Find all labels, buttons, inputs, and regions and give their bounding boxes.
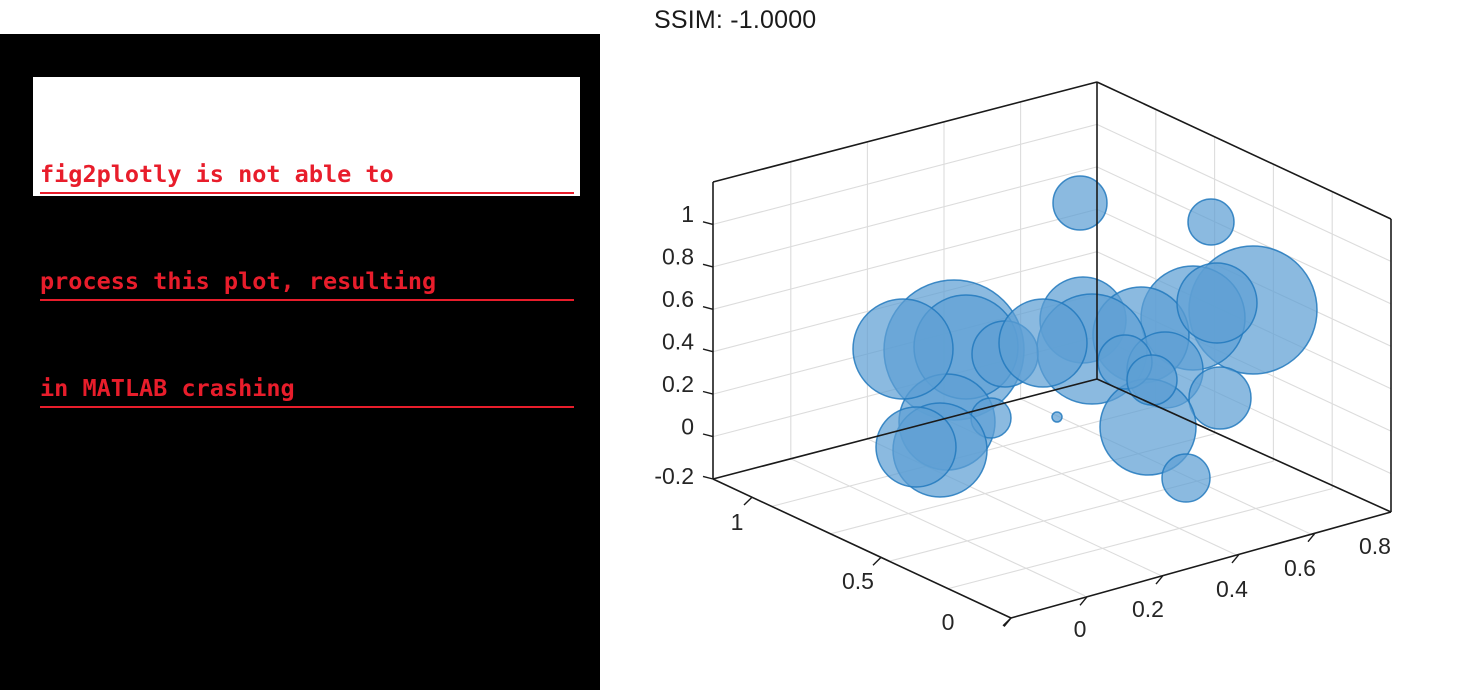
y-tick-label: 0 <box>1074 616 1087 642</box>
z-tick-label: 0.8 <box>662 244 694 270</box>
y-tick-label: 0.8 <box>1359 533 1391 559</box>
app-root: fig2plotly is not able to process this p… <box>0 0 1475 690</box>
bubble-marker <box>1188 199 1234 245</box>
z-axis-tick-labels: 1 0.8 0.6 0.4 0.2 0 -0.2 <box>654 201 694 489</box>
z-tick-label: 0.4 <box>662 329 694 355</box>
y-tick-label: 0.6 <box>1284 555 1316 581</box>
z-tick-label: 0.6 <box>662 286 694 312</box>
z-tick-label: 0.2 <box>662 371 694 397</box>
y-tick-label: 0.4 <box>1216 576 1248 602</box>
bubble-chart-3d: 1 0.8 0.6 0.4 0.2 0 -0.2 1 0.5 0 0 0.2 0… <box>0 0 1475 690</box>
bubble-marker <box>999 299 1087 387</box>
bubble-marker <box>1053 176 1107 230</box>
bubble-marker <box>1177 263 1257 343</box>
z-tick-label: 0 <box>681 414 694 440</box>
z-tick-label: 1 <box>681 201 694 227</box>
bubble-marker <box>1189 367 1251 429</box>
bubble-marker <box>1127 355 1177 405</box>
bubble-marker <box>1162 454 1210 502</box>
z-tick-label: -0.2 <box>654 463 694 489</box>
bubble-marker <box>853 299 953 399</box>
bubble-marker <box>1052 412 1062 422</box>
x-tick-label: 0 <box>942 609 955 635</box>
y-tick-label: 0.2 <box>1132 596 1164 622</box>
x-tick-label: 0.5 <box>842 568 874 594</box>
x-tick-label: 1 <box>731 509 744 535</box>
